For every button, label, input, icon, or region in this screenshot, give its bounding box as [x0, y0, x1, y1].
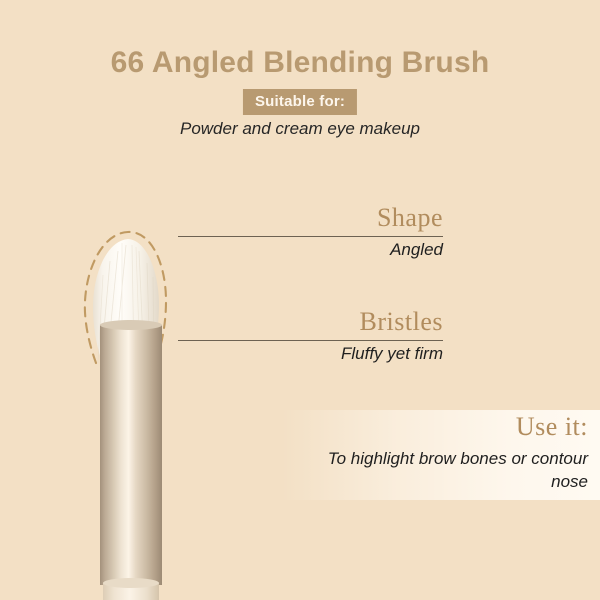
spec-label-bristles: Bristles: [223, 307, 443, 337]
infographic-canvas: 66 Angled Blending Brush Suitable for: P…: [0, 0, 600, 600]
connector-line-shape: [178, 236, 443, 237]
use-it-label: Use it:: [516, 412, 588, 442]
spec-value-shape: Angled: [243, 240, 443, 260]
brush-ferrule: [100, 320, 162, 585]
subtitle-text: Powder and cream eye makeup: [135, 118, 465, 141]
makeup-brush-illustration: [60, 215, 210, 600]
use-it-text: To highlight brow bones or contour nose: [288, 447, 588, 494]
brush-svg: [60, 215, 210, 600]
connector-line-bristles: [178, 340, 443, 341]
spec-label-shape: Shape: [243, 203, 443, 233]
page-title: 66 Angled Blending Brush: [0, 46, 600, 80]
suitable-for-badge: Suitable for:: [243, 89, 357, 115]
brush-handle: [103, 578, 159, 600]
spec-value-bristles: Fluffy yet firm: [223, 344, 443, 364]
